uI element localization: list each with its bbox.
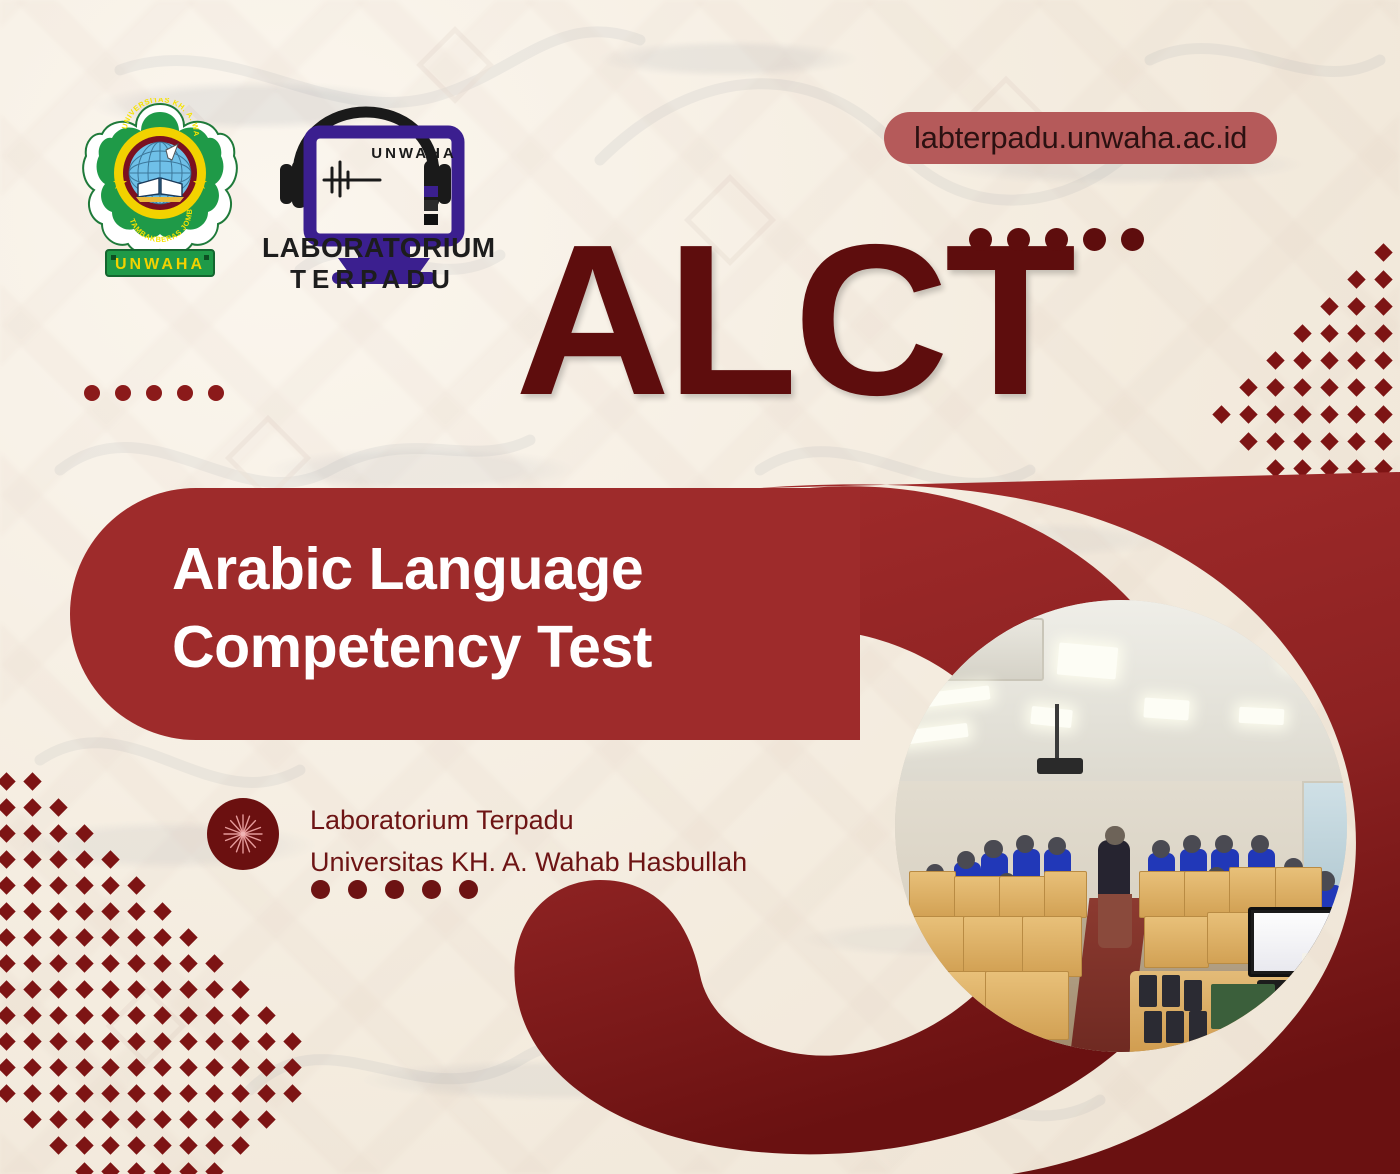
photo-carrel [1144, 916, 1209, 968]
laboratorium-caption: LABORATORIUM TERPADU [262, 232, 484, 295]
photo-teacher [1098, 840, 1130, 899]
photo-light [1056, 643, 1117, 680]
photo-carrel [963, 916, 1024, 972]
photo-device [1184, 980, 1202, 1012]
decorative-dot [1045, 228, 1068, 251]
monitor-screen-label: UNWAHA [371, 145, 457, 162]
photo-device [1189, 1011, 1207, 1043]
photo-device [1166, 1011, 1184, 1043]
headline-line-2: Competency Test [172, 608, 792, 686]
decorative-dot [311, 880, 330, 899]
waveform-icon [324, 162, 380, 196]
photo-mixer [1211, 984, 1274, 1029]
title-dot-row [969, 228, 1144, 251]
left-dot-row [84, 385, 224, 401]
photo-student-head [984, 840, 1002, 858]
photo-light [1143, 698, 1189, 721]
photo-device [1139, 975, 1157, 1007]
photo-carrel [1022, 916, 1083, 977]
decorative-dot [459, 880, 478, 899]
footer-dot-row [311, 880, 478, 899]
lab-caption-line-1: LABORATORIUM [262, 232, 484, 264]
decorative-dot [84, 385, 100, 401]
photo-carrel [904, 916, 965, 972]
decorative-dot [385, 880, 404, 899]
footer-text-block: Laboratorium Terpadu Universitas KH. A. … [310, 800, 747, 884]
decorative-dot [348, 880, 367, 899]
photo-carrel [913, 971, 987, 1036]
starburst-badge [207, 798, 279, 870]
footer-line-2: Universitas KH. A. Wahab Hasbullah [310, 842, 747, 884]
photo-paper [1302, 953, 1334, 976]
unwaha-university-logo: UNIVERSITAS KH. A. WAHAB HASBULLAH TAMBA… [80, 98, 240, 283]
headline-text-block: Arabic Language Competency Test [172, 530, 792, 687]
decorative-dot [969, 228, 992, 251]
photo-teacher-skirt [1098, 894, 1132, 948]
svg-text:UNWAHA: UNWAHA [115, 256, 205, 273]
starburst-icon [220, 811, 266, 857]
decorative-dot [1121, 228, 1144, 251]
level-bars-icon [424, 186, 438, 225]
decorative-dot [422, 880, 441, 899]
headline-line-1: Arabic Language [172, 530, 792, 608]
photo-light [1283, 639, 1339, 669]
lab-photo [895, 600, 1347, 1052]
decorative-dot [146, 385, 162, 401]
photo-ac-unit [931, 618, 1043, 681]
footer-line-1: Laboratorium Terpadu [310, 800, 747, 842]
website-url-badge[interactable]: labterpadu.unwaha.ac.id [884, 112, 1277, 164]
decorative-dot [208, 385, 224, 401]
photo-light [1238, 707, 1284, 725]
decorative-dot [1083, 228, 1106, 251]
photo-carrel [909, 871, 956, 918]
decorative-dot [1007, 228, 1030, 251]
photo-teacher-head [1105, 826, 1124, 845]
photo-carrel [985, 971, 1068, 1041]
photo-device [1162, 975, 1180, 1007]
decorative-dot [115, 385, 131, 401]
photo-device [1144, 1011, 1162, 1043]
photo-projector [1037, 758, 1082, 774]
photo-projector-pole [1055, 704, 1059, 758]
poster-canvas: labterpadu.unwaha.ac.id ALCT Arabic Lang… [0, 0, 1400, 1174]
photo-carrel [1044, 871, 1087, 918]
logo-name-banner: UNWAHA [106, 250, 214, 276]
photo-student-head [1152, 840, 1170, 858]
lab-caption-line-2: TERPADU [262, 264, 484, 295]
photo-paper [1291, 1013, 1347, 1052]
lab-photo-content [895, 600, 1347, 1052]
photo-carrel [1139, 871, 1186, 918]
decorative-dot [177, 385, 193, 401]
